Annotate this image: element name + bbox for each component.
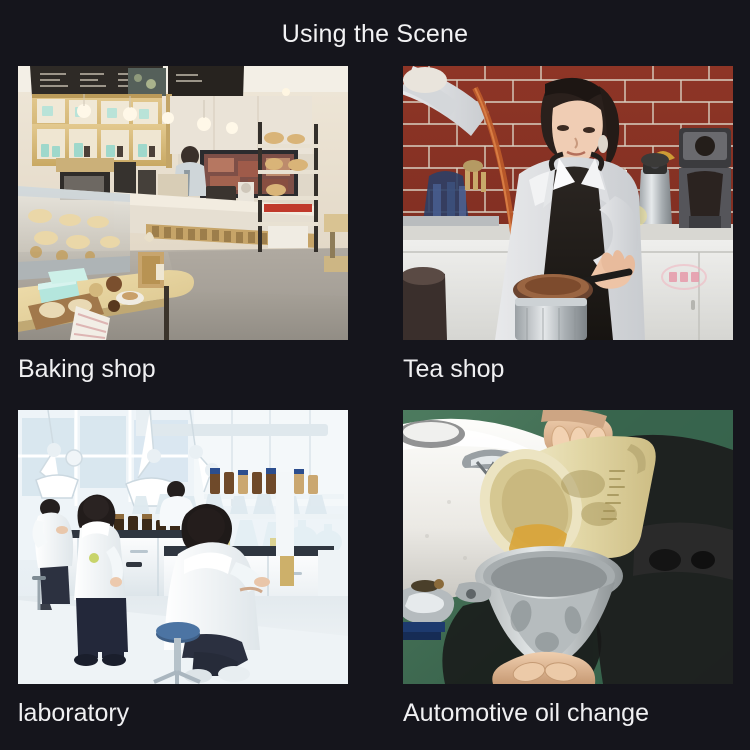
- caption-automotive-oil-change: Automotive oil change: [403, 701, 733, 726]
- scene-gallery-page: Using the Scene: [0, 0, 750, 750]
- caption-baking-shop: Baking shop: [18, 357, 348, 382]
- photo-baking-shop[interactable]: [18, 66, 348, 340]
- photo-laboratory[interactable]: [18, 410, 348, 684]
- photo-tea-shop[interactable]: [403, 66, 733, 340]
- scene-grid: Baking shop: [18, 66, 733, 678]
- laboratory-illustration: [18, 410, 348, 684]
- photo-automotive-oil-change[interactable]: [403, 410, 733, 684]
- baking-shop-illustration: [18, 66, 348, 340]
- automotive-oil-change-illustration: [403, 410, 733, 684]
- gallery-item-laboratory[interactable]: laboratory: [18, 410, 348, 726]
- gallery-item-automotive-oil-change[interactable]: Automotive oil change: [403, 410, 733, 726]
- caption-tea-shop: Tea shop: [403, 357, 733, 382]
- page-title: Using the Scene: [0, 20, 750, 49]
- gallery-item-tea-shop[interactable]: Tea shop: [403, 66, 733, 382]
- caption-laboratory: laboratory: [18, 701, 348, 726]
- gallery-item-baking-shop[interactable]: Baking shop: [18, 66, 348, 382]
- tea-shop-illustration: [403, 66, 733, 340]
